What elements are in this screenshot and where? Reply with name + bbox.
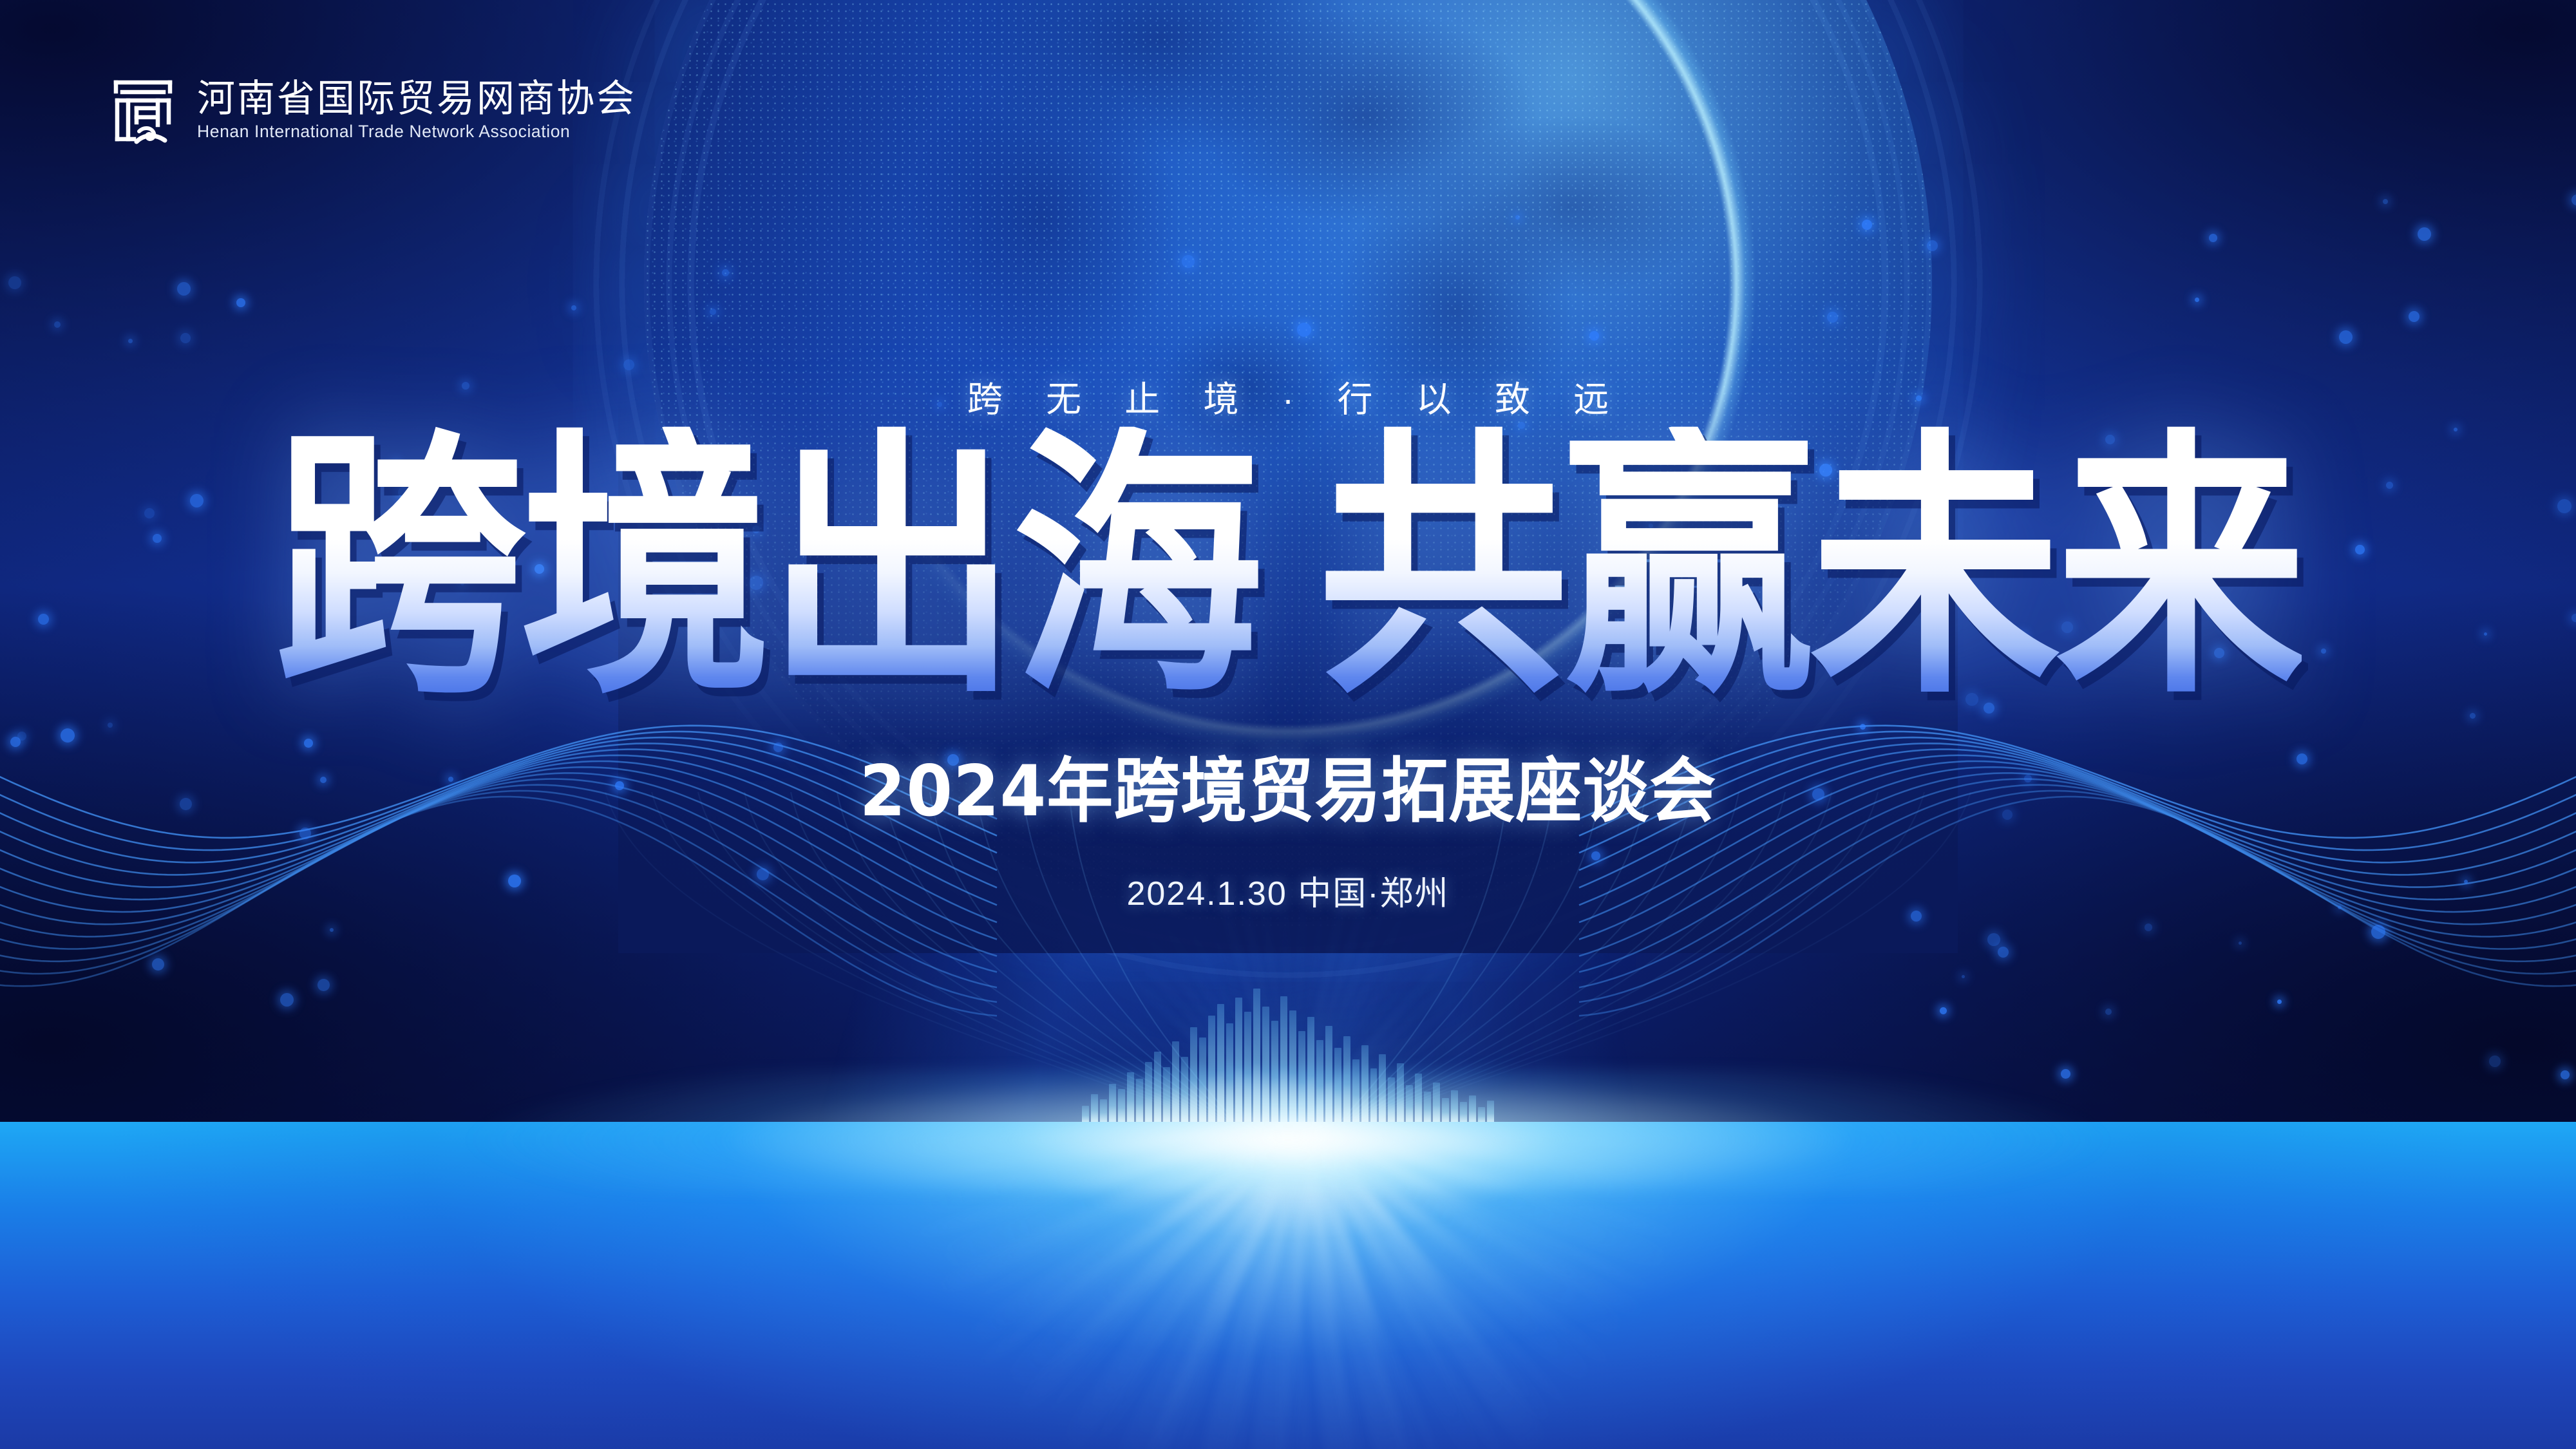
org-name-en: Henan International Trade Network Associ…	[197, 123, 636, 140]
headline-part-1: 跨境出海	[274, 427, 1258, 708]
event-subtitle: 2024年跨境贸易拓展座谈会	[0, 757, 2576, 827]
event-poster: 河南省国际贸易网商协会 Henan International Trade Ne…	[0, 0, 2576, 1449]
headline-gap	[1258, 427, 1318, 708]
org-name-cn: 河南省国际贸易网商协会	[197, 80, 636, 118]
headline-part-2: 共赢未来	[1318, 427, 2302, 708]
seal-script-emblem-icon	[108, 72, 178, 148]
logo-text-block: 河南省国际贸易网商协会 Henan International Trade Ne…	[197, 80, 636, 140]
event-dateline: 2024.1.30 中国·郑州	[0, 877, 2576, 911]
association-logo: 河南省国际贸易网商协会 Henan International Trade Ne…	[108, 72, 636, 148]
main-headline: 跨境出海 共赢未来	[0, 442, 2576, 693]
poster-content: 河南省国际贸易网商协会 Henan International Trade Ne…	[0, 0, 2576, 1449]
